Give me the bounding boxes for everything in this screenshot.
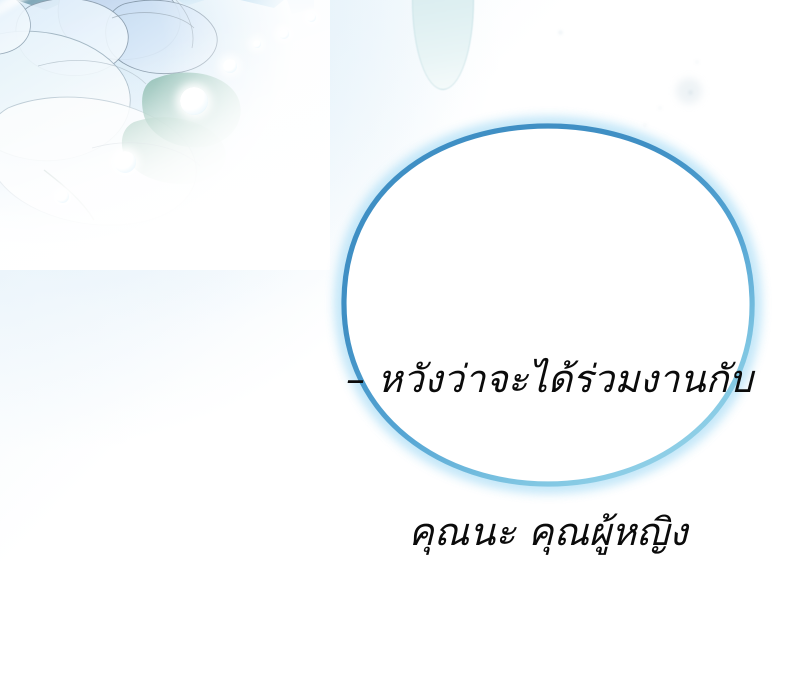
petal-accent-blue-top: [228, 0, 296, 8]
comic-panel: – หวังว่าจะได้ร่วมงานกับ คุณนะ คุณผู้หญิ…: [0, 0, 800, 700]
speech-bubble-text: – หวังว่าจะได้ร่วมงานกับ คุณนะ คุณผู้หญิ…: [346, 252, 750, 659]
speech-line-1: – หวังว่าจะได้ร่วมงานกับ: [346, 354, 750, 405]
floral-decoration: [0, 0, 314, 250]
speech-line-2: คุณนะ คุณผู้หญิง: [346, 507, 750, 558]
